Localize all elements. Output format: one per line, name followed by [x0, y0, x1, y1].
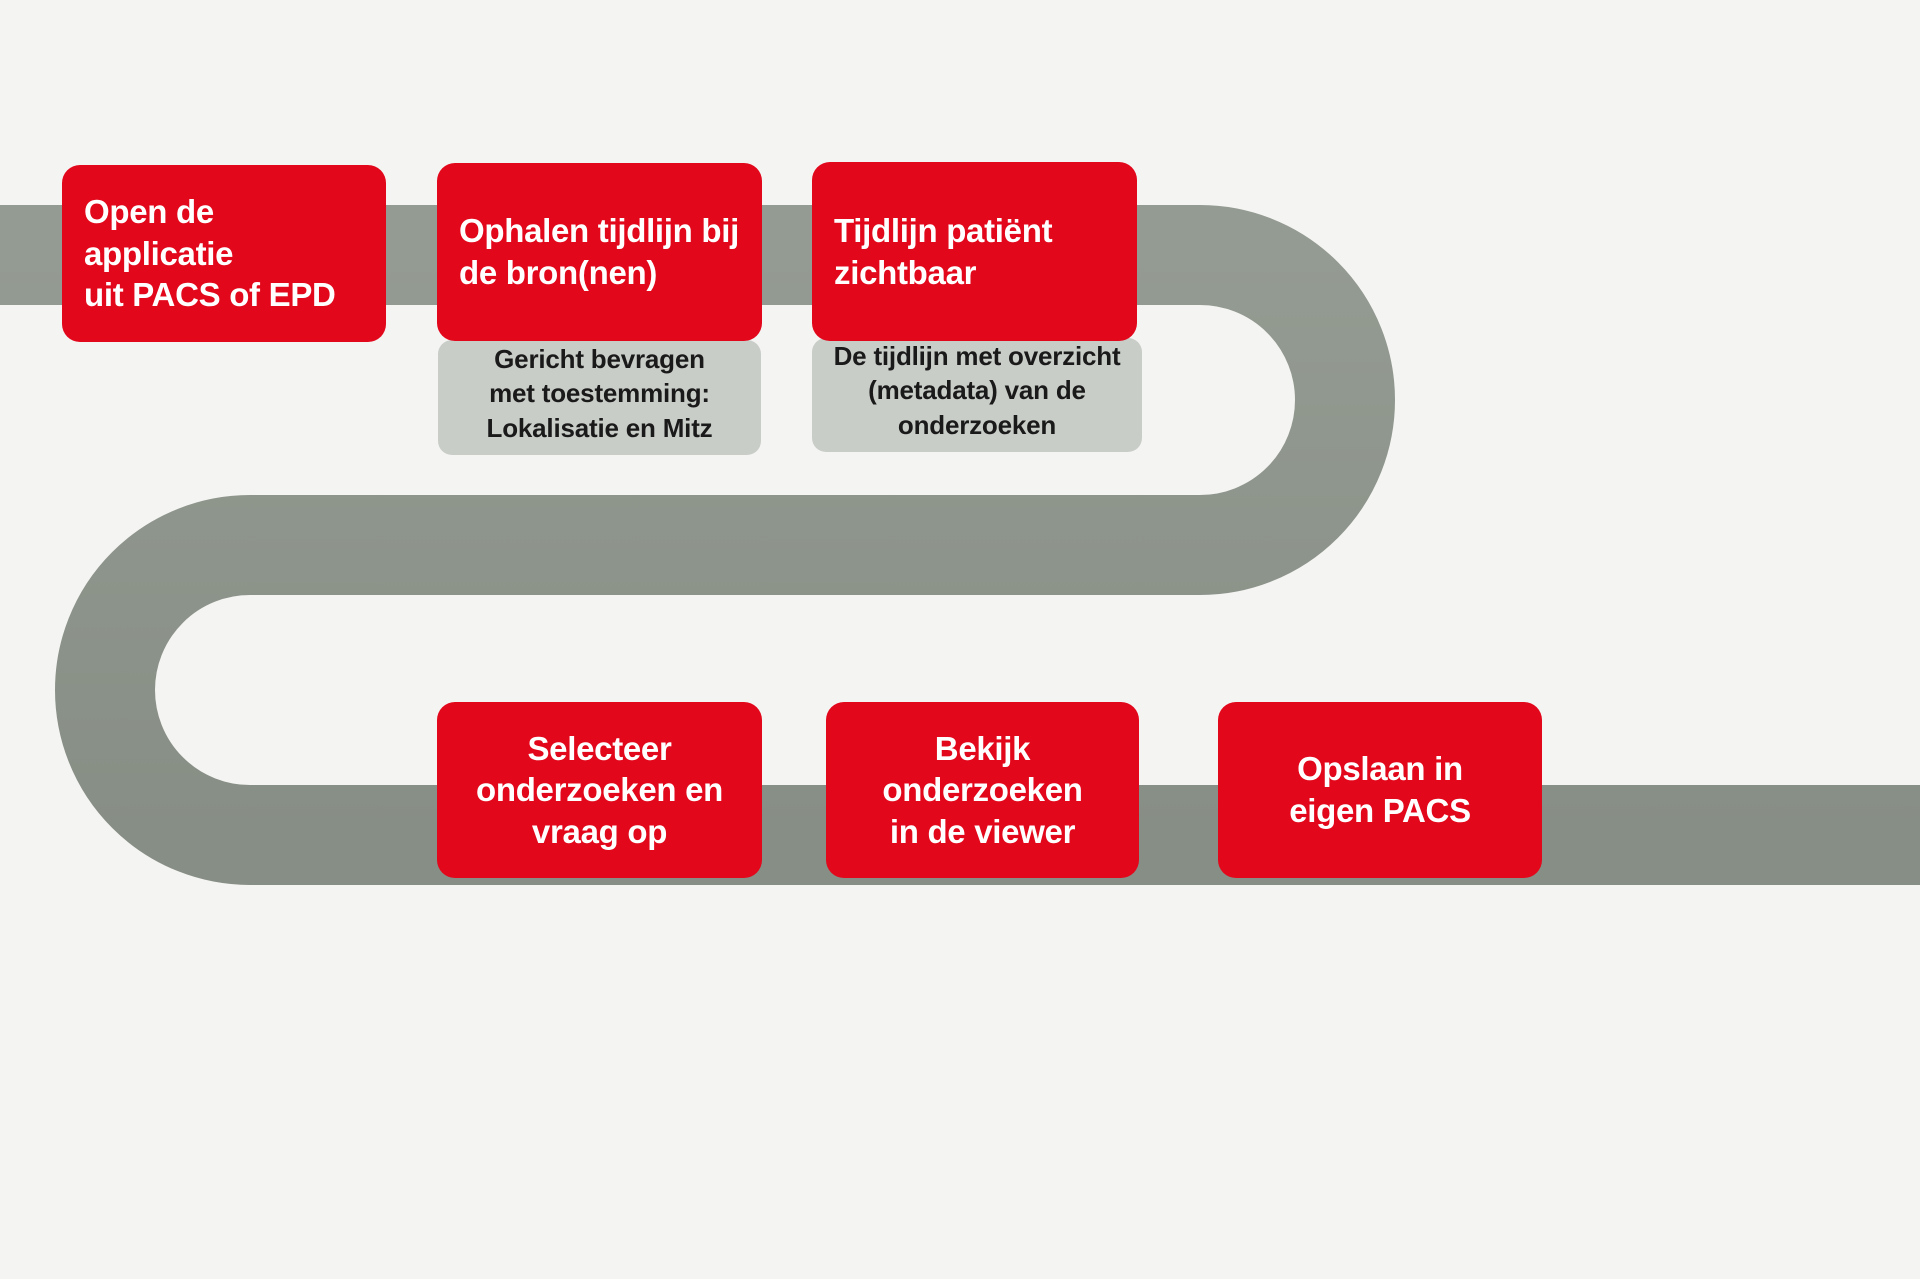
- caption-line: met toestemming:: [487, 376, 713, 410]
- caption-step-3: De tijdlijn met overzicht (metadata) van…: [812, 338, 1142, 452]
- diagram-canvas: Gericht bevragen met toestemming: Lokali…: [0, 0, 1920, 1279]
- caption-step-2: Gericht bevragen met toestemming: Lokali…: [438, 340, 761, 455]
- step-box-open-applicatie[interactable]: Open de applicatie uit PACS of EPD: [62, 165, 386, 342]
- step-box-ophalen-tijdlijn[interactable]: Ophalen tijdlijn bij de bron(nen): [437, 163, 762, 341]
- step-line: onderzoeken: [882, 769, 1082, 811]
- step-line: Bekijk: [882, 728, 1082, 770]
- step-box-opslaan-eigen-pacs-label: Opslaan in eigen PACS: [1289, 748, 1471, 831]
- step-line: Open de applicatie: [84, 191, 364, 274]
- step-box-tijdlijn-patient[interactable]: Tijdlijn patiënt zichtbaar: [812, 162, 1137, 341]
- step-box-selecteer-onderzoeken-label: Selecteer onderzoeken en vraag op: [476, 728, 723, 853]
- step-line: Opslaan in: [1289, 748, 1471, 790]
- step-line: zichtbaar: [834, 252, 1052, 294]
- step-line: Selecteer: [476, 728, 723, 770]
- caption-step-3-text: De tijdlijn met overzicht (metadata) van…: [834, 339, 1121, 442]
- step-line: Ophalen tijdlijn bij: [459, 210, 739, 252]
- step-line: Tijdlijn patiënt: [834, 210, 1052, 252]
- step-box-tijdlijn-patient-label: Tijdlijn patiënt zichtbaar: [834, 210, 1052, 293]
- caption-step-2-text: Gericht bevragen met toestemming: Lokali…: [487, 342, 713, 445]
- step-box-open-applicatie-label: Open de applicatie uit PACS of EPD: [84, 191, 364, 316]
- step-line: uit PACS of EPD: [84, 274, 364, 316]
- step-line: eigen PACS: [1289, 790, 1471, 832]
- step-box-bekijk-onderzoeken[interactable]: Bekijk onderzoeken in de viewer: [826, 702, 1139, 878]
- step-box-selecteer-onderzoeken[interactable]: Selecteer onderzoeken en vraag op: [437, 702, 762, 878]
- caption-line: (metadata) van de: [834, 373, 1121, 407]
- step-box-ophalen-tijdlijn-label: Ophalen tijdlijn bij de bron(nen): [459, 210, 739, 293]
- step-line: in de viewer: [882, 811, 1082, 853]
- step-box-bekijk-onderzoeken-label: Bekijk onderzoeken in de viewer: [882, 728, 1082, 853]
- step-line: onderzoeken en: [476, 769, 723, 811]
- caption-line: Lokalisatie en Mitz: [487, 411, 713, 445]
- caption-line: onderzoeken: [834, 408, 1121, 442]
- step-line: vraag op: [476, 811, 723, 853]
- step-box-opslaan-eigen-pacs[interactable]: Opslaan in eigen PACS: [1218, 702, 1542, 878]
- caption-line: Gericht bevragen: [487, 342, 713, 376]
- caption-line: De tijdlijn met overzicht: [834, 339, 1121, 373]
- step-line: de bron(nen): [459, 252, 739, 294]
